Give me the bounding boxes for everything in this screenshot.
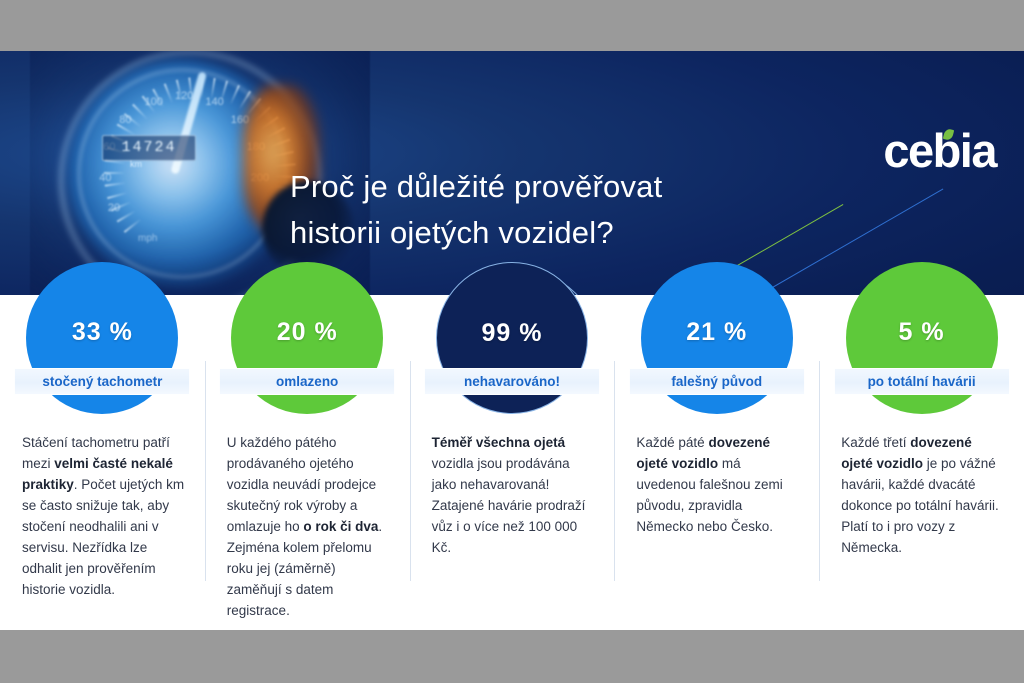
stat-column: 99 %nehavarováno!Téměř všechna ojetá voz… [410, 295, 615, 630]
stat-label-band: po totální havárii [834, 368, 1010, 395]
stat-description: Každé třetí dovezené ojeté vozidlo je po… [819, 432, 1024, 558]
stat-circle-group[interactable]: 5 %po totální havárii [846, 262, 998, 414]
stat-label-band: omlazeno [219, 368, 395, 395]
stat-label: omlazeno [276, 374, 338, 389]
stat-label: falešný původ [671, 374, 762, 389]
stat-label-band: nehavarováno! [424, 368, 600, 395]
stat-label: nehavarováno! [464, 374, 560, 389]
page-title-line2: historii ojetých vozidel? [290, 210, 810, 256]
cebia-logo[interactable]: cebia [883, 127, 996, 174]
stat-circle-group[interactable]: 33 %stočený tachometr [26, 262, 178, 414]
stats-columns: 33 %stočený tachometrStáčení tachometru … [0, 295, 1024, 630]
stat-description: Každé páté dovezené ojeté vozidlo má uve… [614, 432, 819, 537]
page-title: Proč je důležité prověřovat historii oje… [290, 164, 810, 256]
stat-percentage: 33 % [26, 318, 178, 347]
infographic-stage: 20406080100120140160180200 14724 km mph … [0, 0, 1024, 683]
page-title-line1: Proč je důležité prověřovat [290, 169, 662, 204]
stat-percentage: 5 % [846, 318, 998, 347]
stat-circle-group[interactable]: 20 %omlazeno [231, 262, 383, 414]
stat-circle-group[interactable]: 99 %nehavarováno! [436, 262, 588, 414]
stat-description: Téměř všechna ojetá vozidla jsou prodává… [410, 432, 615, 558]
stat-column: 5 %po totální haváriiKaždé třetí dovezen… [819, 295, 1024, 630]
stat-percentage: 20 % [231, 318, 383, 347]
stat-circle-group[interactable]: 21 %falešný původ [641, 262, 793, 414]
stat-label: stočený tachometr [42, 374, 162, 389]
cebia-logo-text: cebia [883, 124, 996, 177]
stat-label-band: falešný původ [629, 368, 805, 395]
content-area: 33 %stočený tachometrStáčení tachometru … [0, 295, 1024, 630]
stat-description: Stáčení tachometru patří mezi velmi čast… [0, 432, 205, 600]
stat-label: po totální havárii [868, 374, 976, 389]
stat-percentage: 21 % [641, 318, 793, 347]
hero-banner: 20406080100120140160180200 14724 km mph … [0, 51, 1024, 295]
stat-column: 21 %falešný původKaždé páté dovezené oje… [614, 295, 819, 630]
stat-percentage: 99 % [437, 319, 587, 348]
stat-column: 33 %stočený tachometrStáčení tachometru … [0, 295, 205, 630]
stat-label-band: stočený tachometr [14, 368, 190, 395]
stat-description: U každého pátého prodávaného ojetého voz… [205, 432, 410, 621]
stat-column: 20 %omlazenoU každého pátého prodávaného… [205, 295, 410, 630]
